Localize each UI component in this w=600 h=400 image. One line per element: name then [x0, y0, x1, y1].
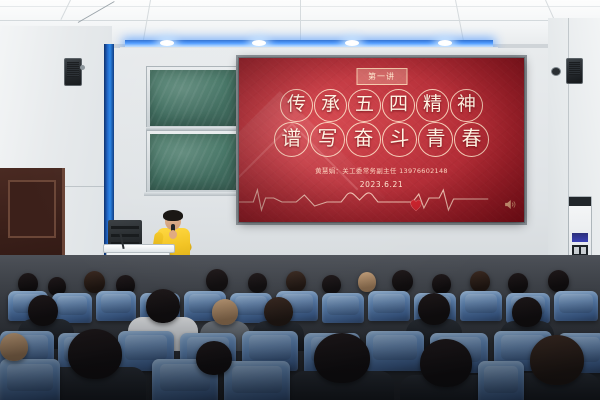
chalkboard-upper-frame — [146, 66, 240, 130]
audience-head — [470, 271, 490, 292]
auditorium-seat[interactable] — [96, 291, 136, 321]
auditorium-seat[interactable] — [366, 331, 424, 371]
left-wall-speaker-icon — [64, 58, 82, 86]
audience-head — [418, 293, 450, 325]
audience-head — [548, 270, 569, 292]
audience-head — [322, 275, 341, 294]
auditorium-seat[interactable] — [478, 361, 524, 400]
audience-head — [530, 335, 584, 385]
chalk-rail-bottom — [144, 192, 240, 196]
right-wall-speaker-icon — [566, 58, 583, 84]
audience-head — [196, 341, 232, 375]
presenter-hand — [169, 230, 177, 239]
audience-head — [432, 274, 451, 294]
audience-head — [508, 273, 528, 294]
audience-head — [358, 272, 376, 292]
audience-head — [314, 333, 370, 383]
slide-vignette — [239, 58, 524, 222]
audience-area — [0, 255, 600, 400]
projection-screen[interactable]: 第一讲 传 承 五 四 精 神 谱 写 奋 斗 青 春 黄慧娟：关工委常务副主任… — [239, 58, 524, 222]
audience-head — [212, 299, 238, 325]
audience-head — [206, 269, 228, 292]
lecture-hall-photo: 第一讲 传 承 五 四 精 神 谱 写 奋 斗 青 春 黄慧娟：关工委常务副主任… — [0, 0, 600, 400]
audience-head — [0, 333, 28, 361]
door-panel — [8, 180, 56, 238]
ceiling-light — [252, 40, 266, 46]
podium-top — [103, 244, 175, 253]
auditorium-seat[interactable] — [224, 361, 290, 400]
presenter-hair — [163, 210, 183, 221]
audience-head — [512, 297, 542, 327]
auditorium-seat[interactable] — [322, 293, 364, 323]
audience-head — [264, 297, 293, 326]
audience-head — [248, 273, 267, 293]
auditorium-seat[interactable] — [554, 291, 598, 321]
audience-head — [68, 329, 122, 379]
audience-head — [84, 271, 105, 293]
ceiling-light — [345, 40, 359, 46]
control-panel-display — [572, 233, 588, 242]
ceiling-light — [160, 40, 174, 46]
wall-control-panel[interactable] — [568, 196, 592, 260]
auditorium-seat[interactable] — [368, 291, 410, 321]
auditorium-seat[interactable] — [460, 291, 502, 321]
right-door-frame — [540, 40, 551, 280]
audience-head — [28, 295, 58, 326]
audience-head — [146, 289, 180, 323]
auditorium-seat[interactable] — [0, 359, 60, 400]
audience-head — [392, 270, 413, 292]
audience-head — [420, 339, 472, 387]
chalkboard-lower — [150, 134, 236, 190]
ceiling-light — [438, 40, 452, 46]
audience-head — [286, 271, 306, 292]
chalkboard-lower-frame — [146, 130, 240, 194]
chalkboard-upper — [150, 70, 236, 126]
camera-icon — [551, 67, 561, 76]
slide-content: 第一讲 传 承 五 四 精 神 谱 写 奋 斗 青 春 黄慧娟：关工委常务副主任… — [239, 58, 524, 222]
